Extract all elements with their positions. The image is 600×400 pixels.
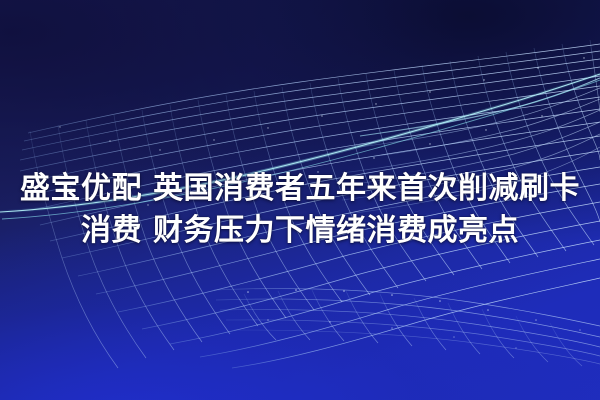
news-banner: 盛宝优配 英国消费者五年来首次削减刷卡消费 财务压力下情绪消费成亮点 (0, 0, 600, 400)
headline-text: 盛宝优配 英国消费者五年来首次削减刷卡消费 财务压力下情绪消费成亮点 (0, 168, 600, 252)
